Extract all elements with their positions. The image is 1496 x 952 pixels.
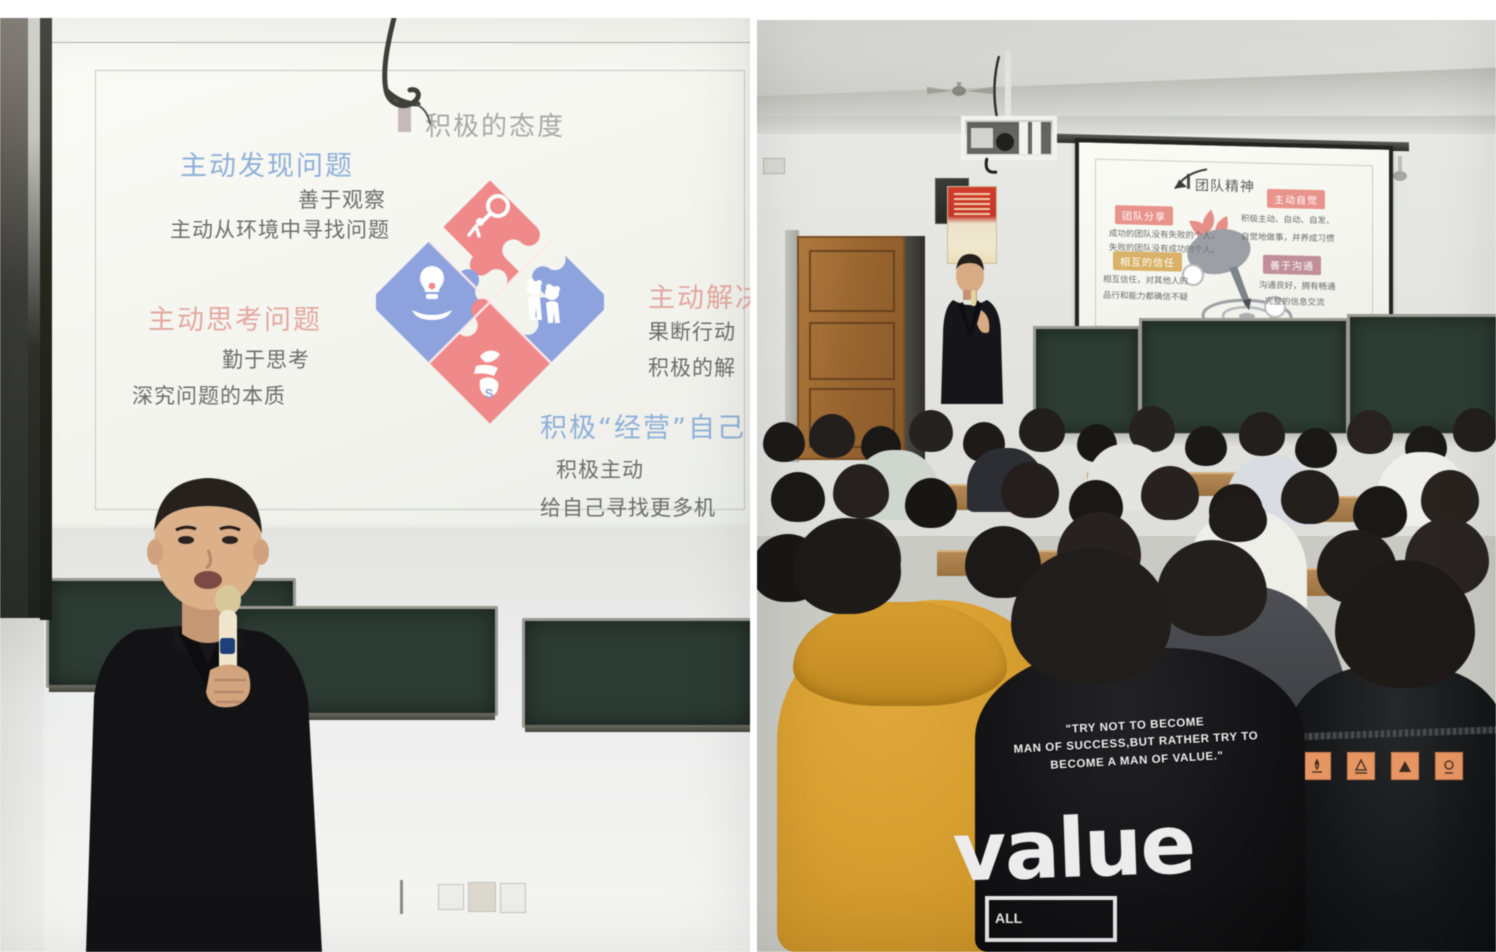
wall-beam [757, 116, 1496, 134]
four-piece-jigsaw-diamond-icon: S [376, 160, 604, 444]
slide-tag-3-body-1: 相互信任，对其他人的 [1103, 273, 1188, 289]
slide-line-1a: 善于观察 [298, 184, 386, 214]
audience-head [905, 478, 957, 528]
right-photo-classroom-audience: 团队精神 [757, 20, 1496, 952]
patch-figure-icon [1396, 758, 1414, 776]
slide-line-4b: 给自己寻找更多机 [540, 492, 716, 522]
slide-tag-2: 主动自觉 [1267, 189, 1325, 209]
patch-figure-icon [1308, 758, 1326, 776]
audience-head-large [1157, 540, 1267, 636]
slide-tag-2-body-2: 自觉地做事，并养成习惯 [1241, 230, 1335, 246]
wall-sign [763, 158, 785, 174]
jacket-patch-1 [1303, 752, 1331, 780]
slide-tag-2-body-1: 积极主动、自动、自发、 [1241, 212, 1335, 228]
slide-line-2a: 勤于思考 [222, 344, 310, 374]
door-panel-top [809, 250, 895, 312]
audience-head [1347, 410, 1393, 454]
slide-heading-3: 主动解决 [648, 276, 750, 315]
slide-heading-1: 主动发现问题 [180, 144, 354, 183]
wall-outlet-3[interactable] [500, 883, 526, 913]
left-photo-speaker-with-slide: 积极的态度 主动发现问题 善于观察 主动从环境中寻找问题 主动思考问题 勤于思考… [0, 18, 750, 952]
patch-figure-icon [1440, 758, 1458, 776]
audience-head [1453, 408, 1496, 452]
jacket-small-logo-box: ALL [985, 896, 1117, 942]
audience-head [1209, 494, 1267, 542]
door-panel-mid [809, 322, 895, 380]
slide-heading-2: 主动思考问题 [148, 298, 322, 337]
slide-line-1b: 主动从环境中寻找问题 [170, 214, 390, 244]
audience-head [771, 472, 825, 522]
slide-line-2b: 深究问题的本质 [132, 380, 286, 410]
speaker-figure [78, 470, 338, 952]
slide-tag-4-body-1: 沟通良好，拥有畅通 [1259, 279, 1336, 295]
slide-line-3b: 积极的解 [648, 352, 736, 382]
audience-head [763, 422, 805, 462]
audience-head [1141, 466, 1199, 520]
audience-head-large [793, 518, 901, 614]
wall-outlets-group [398, 880, 598, 930]
wall-switch-1[interactable] [438, 884, 464, 910]
audience-head [1295, 428, 1337, 468]
poster-text-lines [954, 193, 990, 223]
audience-head [1001, 462, 1059, 518]
jacket-patch-2 [1347, 752, 1375, 780]
audience-head [1281, 470, 1339, 524]
jacket-small-logo-text: ALL [995, 910, 1022, 926]
jacket-big-word: value [951, 794, 1284, 900]
audience-group: "TRY NOT TO BECOME MAN OF SUCCESS,BUT RA… [757, 400, 1496, 952]
audience-head [909, 410, 953, 452]
audience-head [1185, 426, 1227, 466]
slide-tag-4: 善于沟通 [1263, 255, 1321, 275]
slide-tag-3-body-2: 品行和能力都确信不疑 [1103, 289, 1188, 305]
ceiling-fan-left-icon [925, 82, 995, 100]
wall-conduit [400, 880, 403, 914]
jacket-patch-4 [1435, 752, 1463, 780]
jacket-patch-3 [1391, 752, 1419, 780]
slide-tag-4-body-2: 完整的信息交流 [1265, 295, 1325, 310]
svg-text:S: S [485, 386, 494, 401]
ceiling-projector-icon [949, 50, 1079, 180]
chalkboard-right [522, 618, 750, 728]
audience-head [1239, 412, 1285, 456]
black-patch-jacket [1287, 666, 1496, 952]
audience-head-large [1011, 548, 1171, 684]
hanging-hook-silhouette-icon [348, 18, 468, 148]
patch-figure-icon [1352, 758, 1370, 776]
audience-head [809, 414, 855, 458]
slide-tag-1: 团队分享 [1115, 205, 1173, 225]
photo-collage: 积极的态度 主动发现问题 善于观察 主动从环境中寻找问题 主动思考问题 勤于思考… [0, 0, 1496, 952]
left-edge-board-strip [40, 18, 52, 620]
presenter-figure-right [935, 254, 1005, 404]
slide-line-4a: 积极主动 [556, 454, 644, 484]
wall-outlet-2[interactable] [468, 882, 496, 912]
slide-line-3a: 果断行动 [648, 316, 736, 346]
audience-head [833, 464, 889, 518]
arrow-icon [1169, 166, 1209, 199]
audience-head [1019, 408, 1065, 452]
wall-poster [947, 186, 997, 264]
slide-tag-3: 相互的信任 [1113, 251, 1182, 272]
